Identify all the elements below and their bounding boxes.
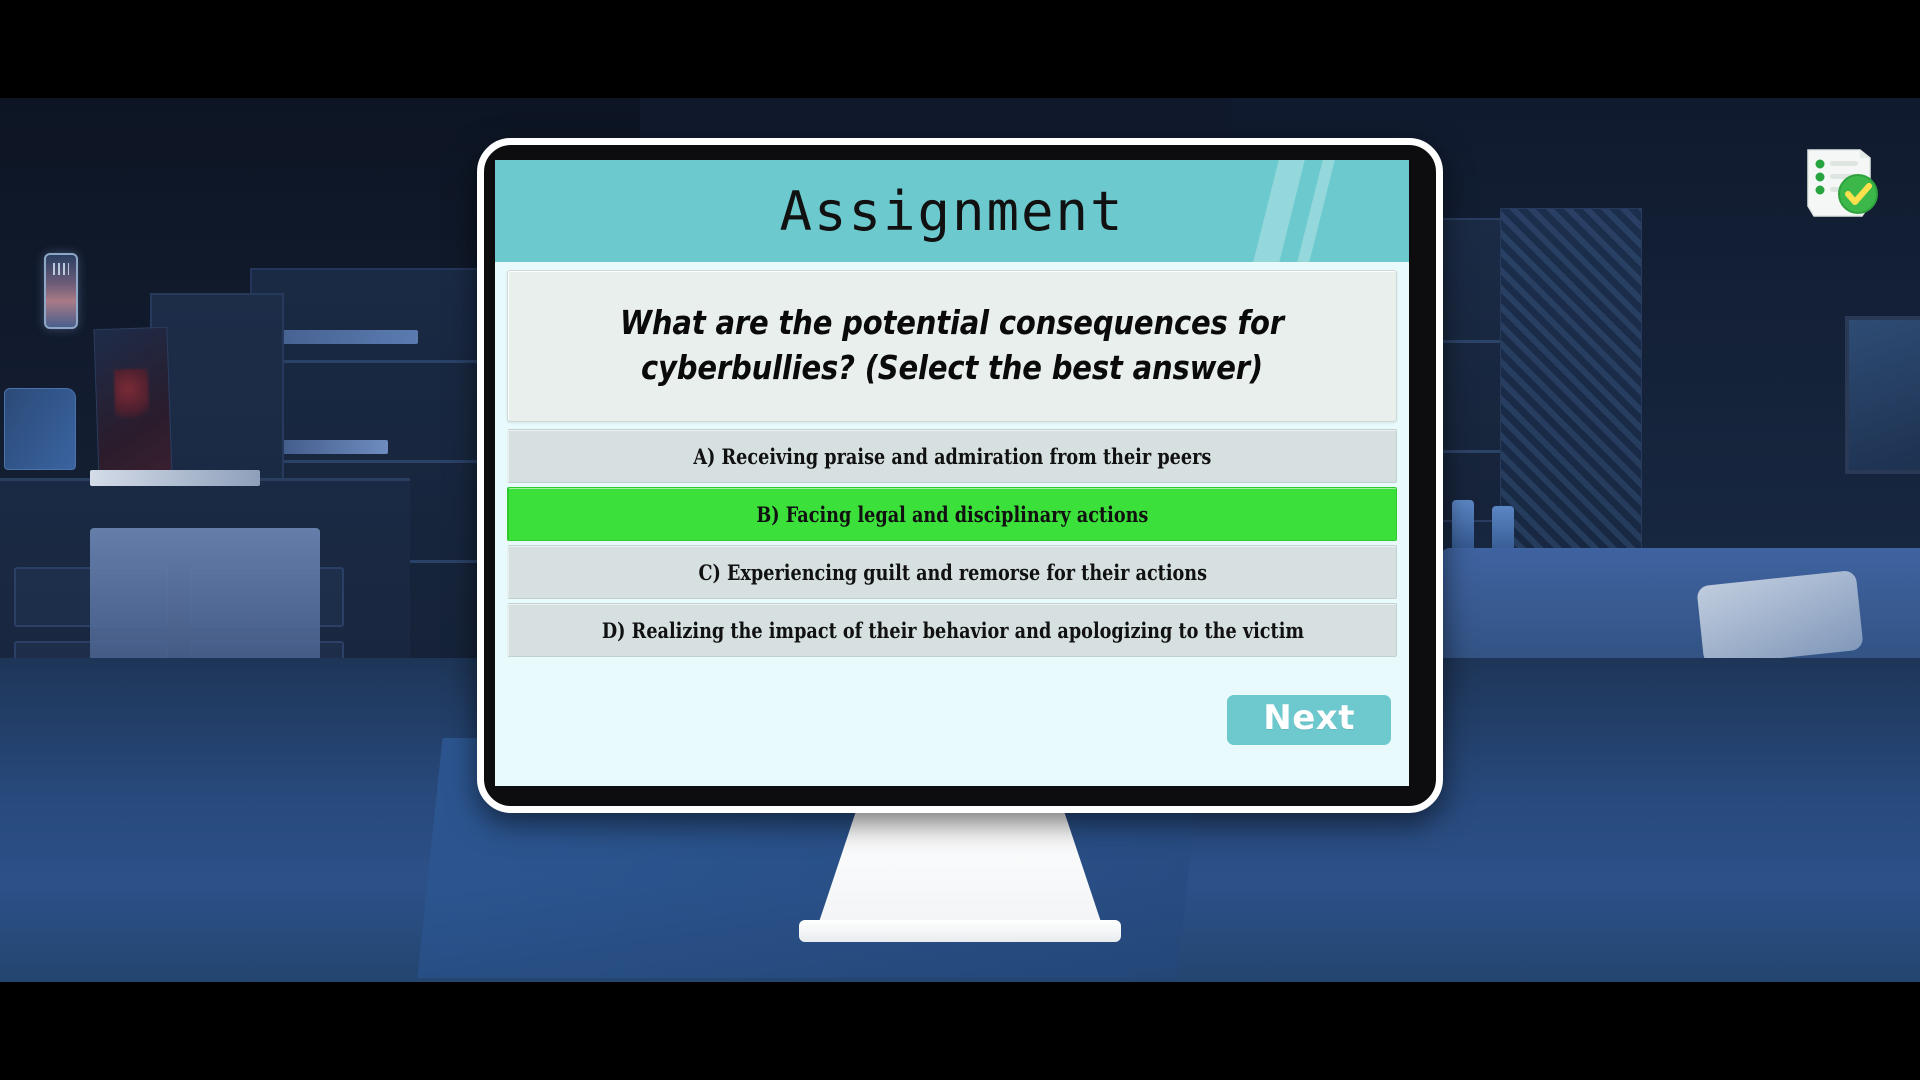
monitor-screen: Assignment What are the potential conseq…: [495, 160, 1409, 786]
question-text: What are the potential consequences for …: [588, 301, 1317, 391]
book-pile: [90, 470, 260, 486]
jug: [4, 388, 76, 470]
pillow: [1696, 570, 1863, 666]
book-pile-2: [95, 488, 255, 502]
answer-option-d-label: D) Realizing the impact of their behavio…: [601, 618, 1303, 643]
quiz-body: What are the potential consequences for …: [495, 262, 1409, 786]
letterbox-bar-bottom: [0, 982, 1920, 1080]
monitor-stand-neck: [817, 808, 1103, 928]
answer-option-b[interactable]: B) Facing legal and disciplinary actions: [507, 487, 1397, 541]
letterbox-bar-top: [0, 0, 1920, 98]
answer-option-c-label: C) Experiencing guilt and remorse for th…: [698, 560, 1207, 585]
app-header: Assignment: [495, 160, 1409, 262]
answer-option-b-label: B) Facing legal and disciplinary actions: [756, 502, 1148, 527]
answer-option-a-label: A) Receiving praise and admiration from …: [694, 444, 1212, 469]
framed-picture: [1845, 316, 1920, 474]
answer-option-d[interactable]: D) Realizing the impact of their behavio…: [507, 603, 1397, 657]
wall-phone-screen: [44, 253, 78, 329]
monitor-stand-base: [799, 920, 1121, 942]
quiz-footer: Next: [507, 664, 1397, 786]
wall-poster: [93, 327, 172, 481]
checklist-icon[interactable]: [1790, 140, 1886, 226]
next-button[interactable]: Next: [1227, 695, 1391, 745]
answer-option-a[interactable]: A) Receiving praise and admiration from …: [507, 429, 1397, 483]
screenshot-stage: Assignment What are the potential conseq…: [0, 0, 1920, 1080]
page-title: Assignment: [779, 180, 1124, 243]
question-box: What are the potential consequences for …: [507, 270, 1397, 422]
answer-option-c[interactable]: C) Experiencing guilt and remorse for th…: [507, 545, 1397, 599]
computer-monitor: Assignment What are the potential conseq…: [477, 138, 1443, 813]
answer-list: A) Receiving praise and admiration from …: [507, 429, 1397, 657]
